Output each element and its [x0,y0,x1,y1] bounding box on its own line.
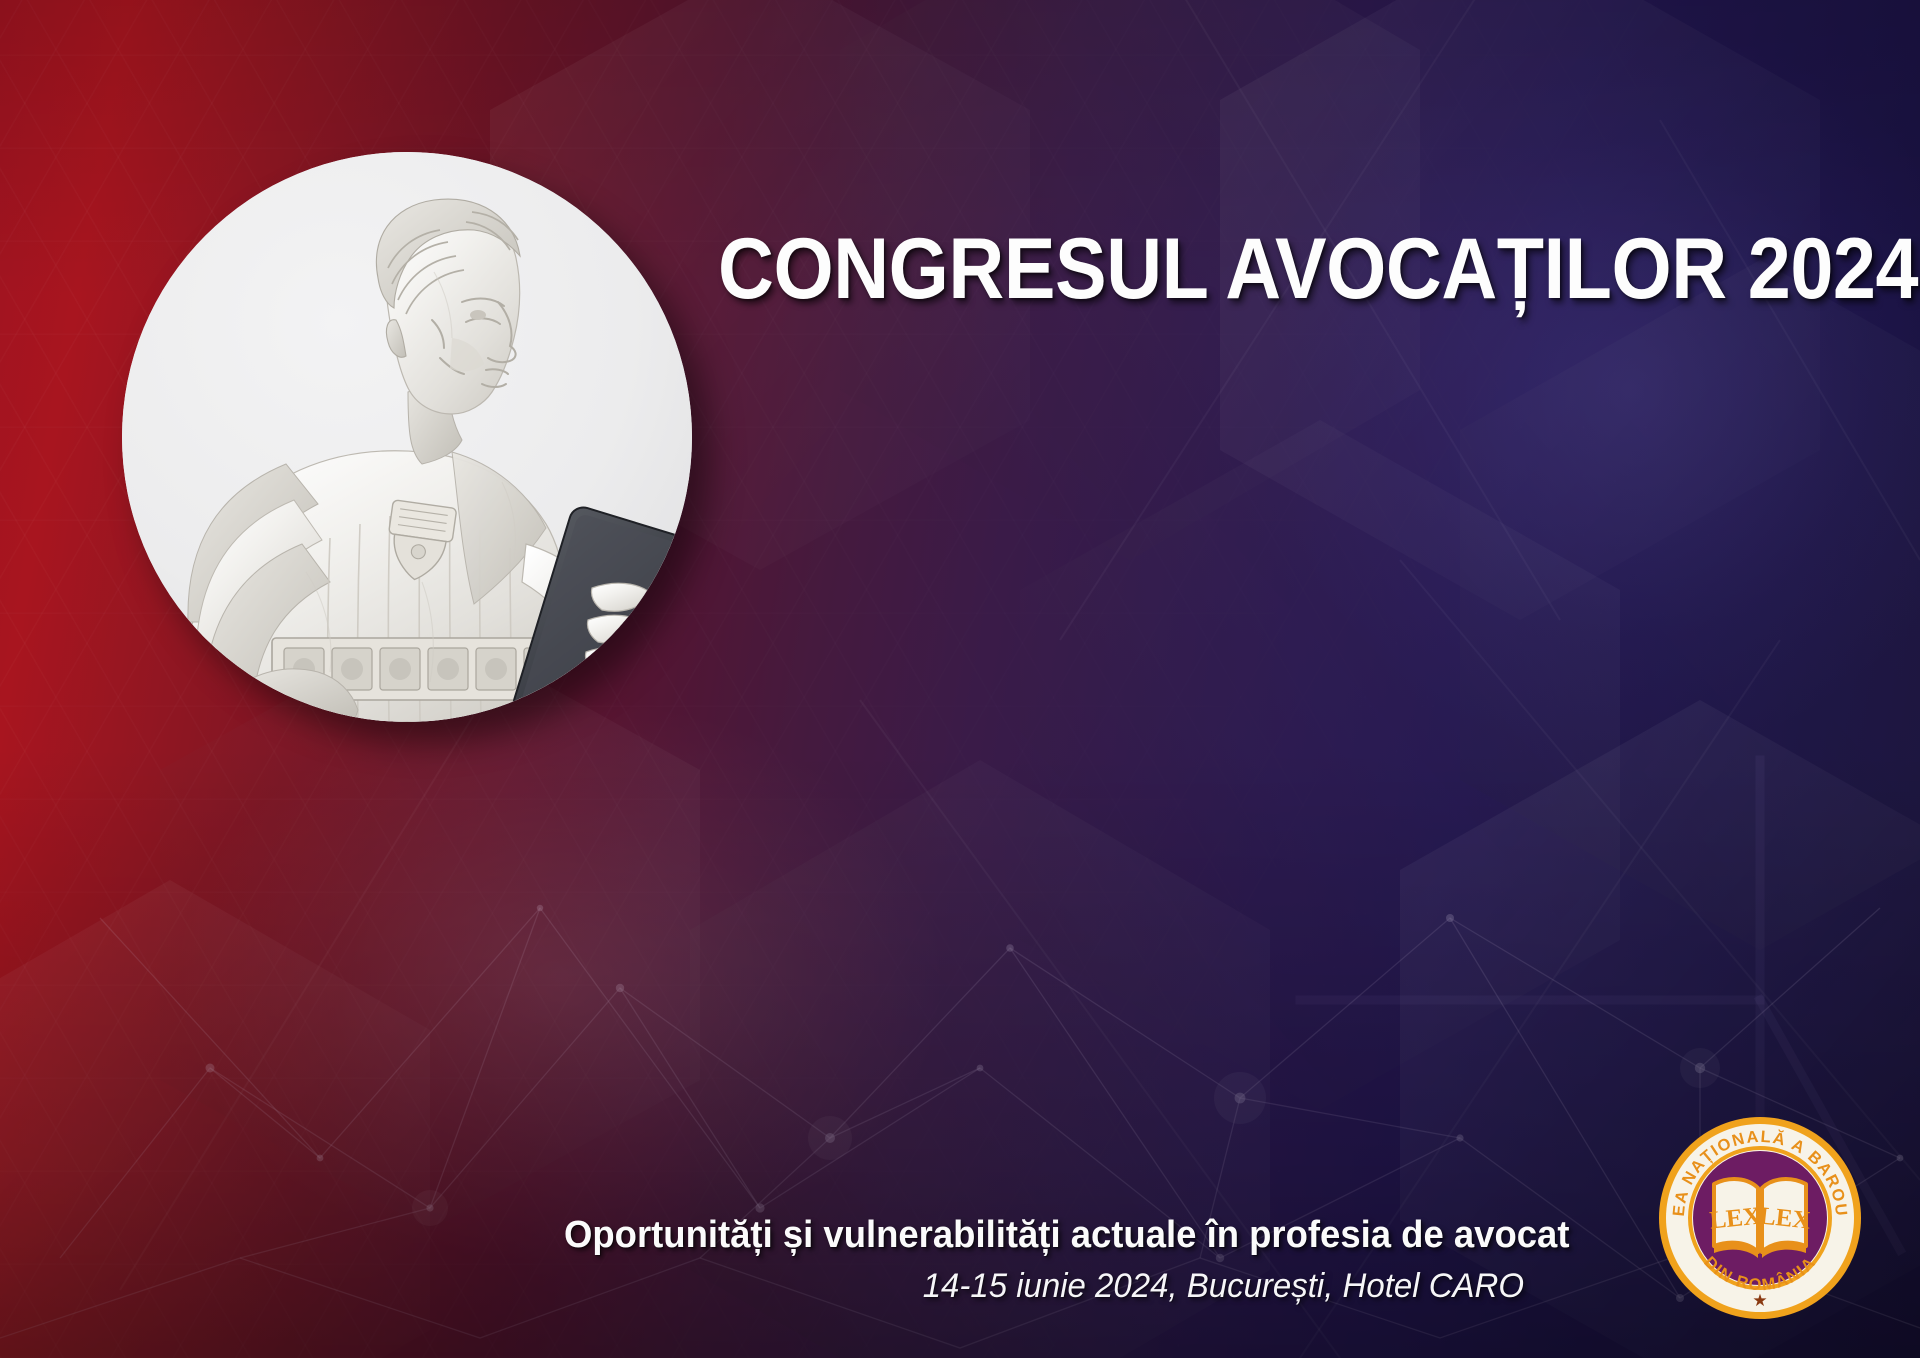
page-title: CONGRESUL AVOCAȚILOR 2024 [718,228,1456,311]
poster-subtitle: Oportunități și vulnerabilități actuale … [564,1214,1524,1257]
poster-date-location: 14-15 iunie 2024, București, Hotel CARO [554,1267,1524,1306]
seal-star-icon: ★ [1752,1291,1767,1311]
roman-statue-with-tablet-icon [122,152,692,722]
unbr-seal-icon: UNIUNEA NAȚIONALĂ A BAROURILOR DIN ROMÂN… [1656,1114,1864,1322]
footer-text-block: Oportunități și vulnerabilități actuale … [524,1214,1524,1306]
seal-book-left-word: LEX [1708,1202,1762,1234]
conference-poster: CONGRESUL AVOCAȚILOR 2024 Oportunități ș… [0,0,1920,1358]
seal-book-right-word: LEX [1758,1202,1812,1234]
